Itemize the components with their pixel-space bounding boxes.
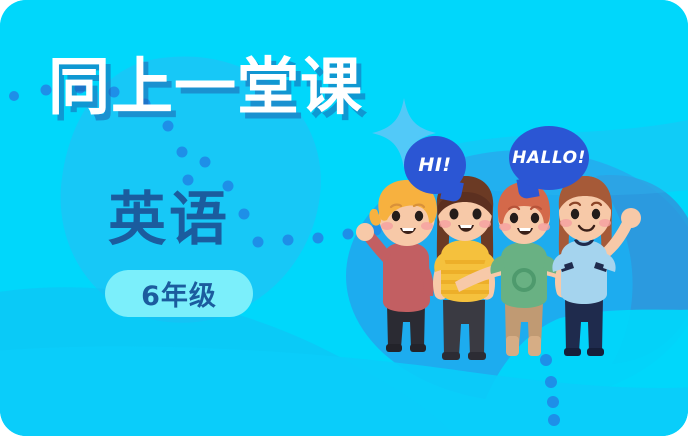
child4-eye-right	[592, 209, 600, 219]
speech-bubble-hi: HI!	[404, 136, 466, 194]
child4-shirt	[561, 240, 607, 304]
child3-cheek-left	[499, 223, 511, 231]
child-auburn-waving	[552, 176, 641, 356]
child3-leg-left	[506, 336, 519, 356]
child3-teeth	[519, 228, 531, 231]
child3-eye-left	[510, 213, 518, 223]
speech-bubble-hallo-body: HALLO!	[509, 126, 589, 190]
child2-shoe-left	[442, 352, 460, 360]
child4-pants	[565, 298, 603, 352]
child1-cheek-left	[381, 222, 393, 230]
child2-eye-left	[450, 209, 459, 220]
child1-eye-left	[392, 211, 400, 221]
child2-shoe-right	[468, 352, 486, 360]
child4-shoe-left	[564, 348, 581, 356]
child1-shoe-right	[410, 344, 426, 352]
child4-hand	[621, 208, 641, 228]
child1-shoe-left	[386, 344, 402, 352]
child1-teeth	[402, 228, 414, 231]
child4-eye-left	[571, 209, 579, 219]
speech-bubble-hi-text: HI!	[418, 154, 451, 176]
child4-cheek-left	[560, 219, 572, 227]
child1-eye-right	[415, 211, 423, 221]
child2-eye-right	[473, 209, 482, 220]
children-illustration	[355, 176, 675, 362]
child3-shirt	[501, 242, 547, 308]
speech-bubble-hi-body: HI!	[404, 136, 466, 194]
child3-leg-right	[528, 336, 541, 356]
grade-badge-label: 6年级	[141, 274, 217, 313]
child-blond-waving	[356, 180, 437, 352]
child1-cheek-right	[421, 222, 433, 230]
child2-pants	[443, 300, 485, 356]
child3-cheek-right	[538, 223, 550, 231]
course-banner: 同上一堂课 英语 6年级 HI! HALLO!	[0, 0, 688, 436]
child1-hand	[356, 223, 374, 241]
child2-teeth	[460, 225, 472, 228]
speech-bubble-hallo: HALLO!	[509, 126, 589, 190]
child4-shoe-right	[587, 348, 604, 356]
child4-cheek-right	[599, 219, 611, 227]
speech-bubble-hallo-text: HALLO!	[512, 148, 586, 168]
grade-badge[interactable]: 6年级	[105, 270, 253, 317]
child2-cheek-right	[479, 220, 491, 228]
child3-eye-right	[531, 213, 539, 223]
child2-cheek-left	[439, 220, 451, 228]
